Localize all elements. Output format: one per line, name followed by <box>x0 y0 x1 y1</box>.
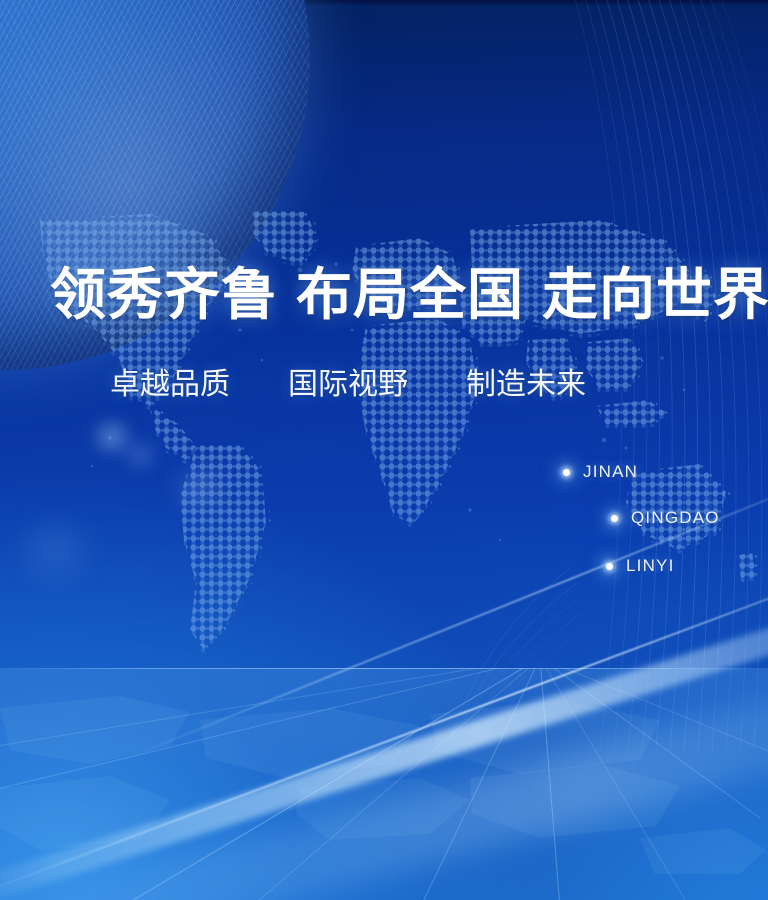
location-pin-icon <box>563 469 570 476</box>
subheadline-part-1: 卓越品质 <box>110 368 230 401</box>
headline-part-2: 布局全国 <box>296 265 524 327</box>
city-label-jinan: JINAN <box>583 462 638 482</box>
page-subtitle: 卓越品质国际视野制造未来 <box>110 370 586 400</box>
city-marker-qingdao[interactable]: QINGDAO <box>611 508 720 528</box>
location-pin-icon <box>611 515 618 522</box>
city-label-qingdao: QINGDAO <box>631 508 720 528</box>
city-marker-linyi[interactable]: LINYI <box>606 556 675 576</box>
city-marker-jinan[interactable]: JINAN <box>563 462 638 482</box>
city-label-linyi: LINYI <box>626 556 675 576</box>
page-title: 领秀齐鲁布局全国走向世界 <box>50 268 768 324</box>
location-pin-icon <box>606 563 613 570</box>
subheadline-part-3: 制造未来 <box>466 368 586 401</box>
headline-part-1: 领秀齐鲁 <box>50 265 278 327</box>
headline-part-3: 走向世界 <box>542 265 768 327</box>
banner-content: 领秀齐鲁布局全国走向世界 卓越品质国际视野制造未来 JINAN QINGDAO … <box>0 0 768 900</box>
subheadline-part-2: 国际视野 <box>288 368 408 401</box>
promo-banner: 领秀齐鲁布局全国走向世界 卓越品质国际视野制造未来 JINAN QINGDAO … <box>0 0 768 900</box>
